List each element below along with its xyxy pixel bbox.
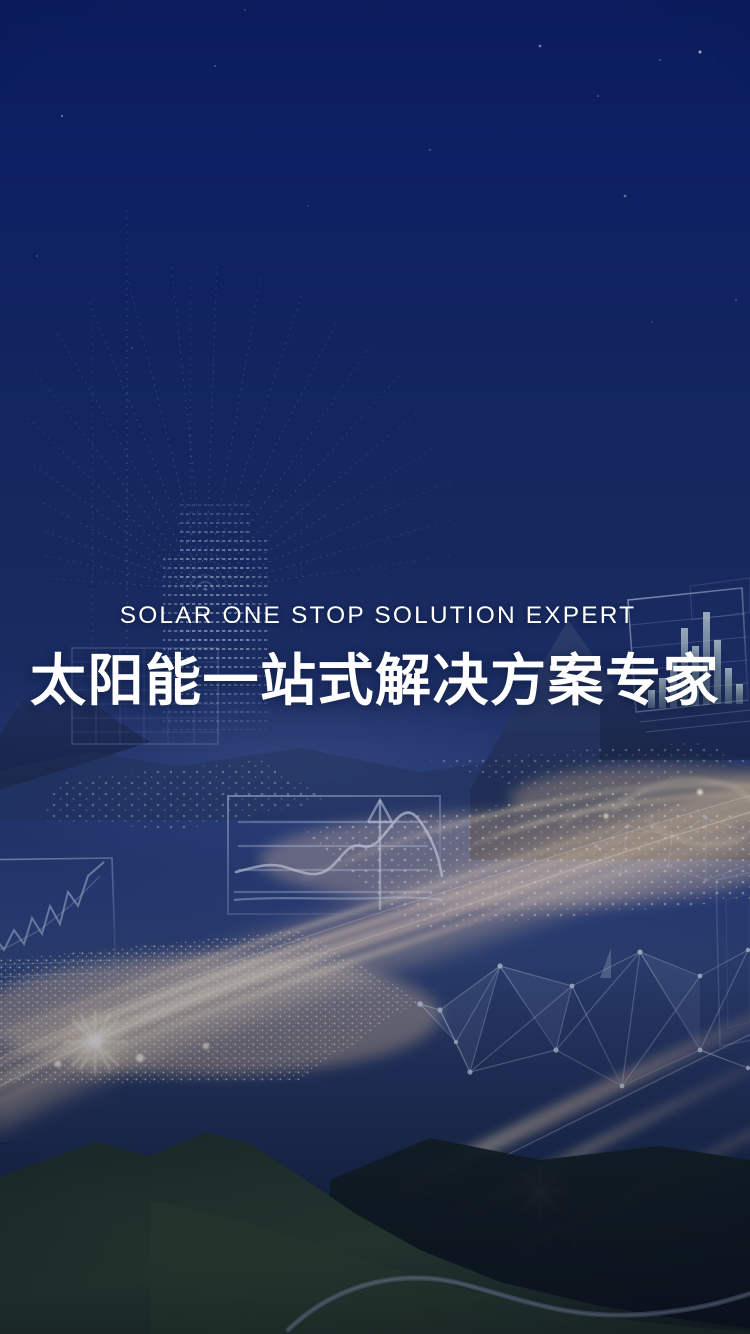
hero-eyebrow: SOLAR ONE STOP SOLUTION EXPERT: [6, 604, 750, 629]
hud-network-mesh: [417, 948, 750, 1089]
page-title: 太阳能一站式解决方案专家: [0, 651, 750, 710]
hud-network-mesh-secondary: [594, 816, 744, 881]
hero-text-block: SOLAR ONE STOP SOLUTION EXPERT 太阳能一站式解决方…: [0, 604, 750, 710]
hud-wave-chart-panel: [228, 796, 442, 914]
hud-jagged-line-panel: [0, 858, 116, 986]
hud-sail-marker-icon: [600, 948, 611, 978]
hero-banner: SOLAR ONE STOP SOLUTION EXPERT 太阳能一站式解决方…: [0, 0, 750, 1334]
